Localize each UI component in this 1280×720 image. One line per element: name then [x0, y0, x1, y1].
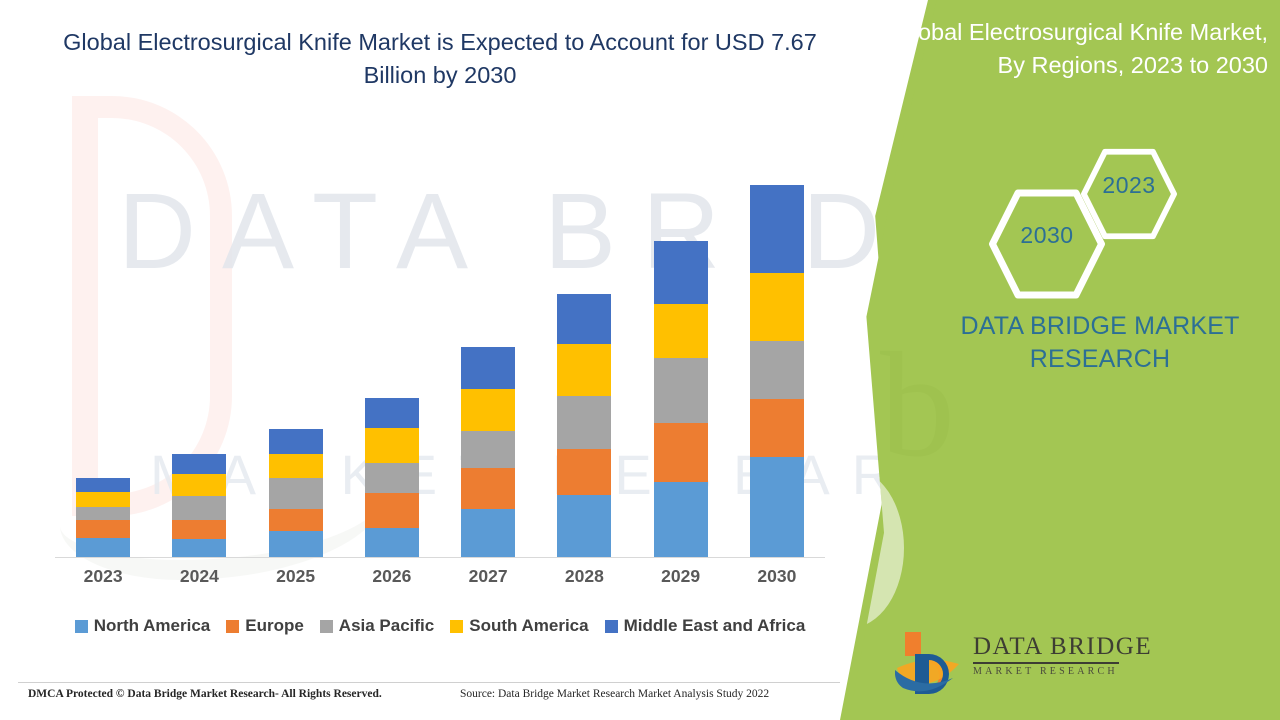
footer-source: Source: Data Bridge Market Research Mark… — [460, 688, 769, 700]
legend-item[interactable]: Middle East and Africa — [605, 616, 806, 636]
bar-segment[interactable] — [76, 520, 130, 538]
bar-stack[interactable] — [654, 241, 708, 558]
bar-segment[interactable] — [76, 478, 130, 492]
x-axis-label: 2024 — [151, 566, 247, 587]
bar-segment[interactable] — [365, 528, 419, 558]
bar-stack[interactable] — [172, 454, 226, 558]
data-bridge-logo-mark — [895, 628, 969, 694]
hexagon-pair: 2030 2023 — [975, 148, 1195, 288]
x-axis-label: 2025 — [248, 566, 344, 587]
infographic-canvas: DATA BRIDGE MARKET RESEARCH Global Elect… — [0, 0, 1280, 720]
page-title: Global Electrosurgical Knife Market is E… — [60, 26, 820, 93]
bar-segment[interactable] — [654, 241, 708, 304]
bar-segment[interactable] — [750, 457, 804, 558]
hexagon-2023: 2023 — [1081, 146, 1177, 242]
bar-column — [55, 150, 151, 558]
data-bridge-logo-text: DATA BRIDGE MARKET RESEARCH — [973, 634, 1123, 677]
legend-swatch-icon — [605, 620, 618, 633]
bar-segment[interactable] — [172, 454, 226, 475]
bar-segment[interactable] — [365, 428, 419, 463]
logo-wordmark: DATA BRIDGE — [973, 634, 1123, 659]
bar-column — [248, 150, 344, 558]
bar-column — [729, 150, 825, 558]
bar-segment[interactable] — [750, 185, 804, 273]
bar-stack[interactable] — [461, 347, 515, 558]
panel-brand-text: DATA BRIDGE MARKET RESEARCH — [950, 310, 1250, 376]
bar-segment[interactable] — [461, 509, 515, 558]
bar-segment[interactable] — [654, 482, 708, 558]
chart-legend: North AmericaEuropeAsia PacificSouth Ame… — [55, 616, 825, 636]
x-axis-label: 2023 — [55, 566, 151, 587]
bar-segment[interactable] — [76, 507, 130, 520]
x-axis-label: 2027 — [440, 566, 536, 587]
bar-segment[interactable] — [365, 463, 419, 493]
legend-label: Middle East and Africa — [624, 616, 806, 636]
bar-segment[interactable] — [750, 273, 804, 341]
bar-segment[interactable] — [172, 474, 226, 496]
legend-label: Asia Pacific — [339, 616, 434, 636]
bar-segment[interactable] — [172, 520, 226, 539]
bar-stack[interactable] — [269, 429, 323, 558]
bar-segment[interactable] — [269, 429, 323, 454]
bar-segment[interactable] — [269, 454, 323, 479]
legend-label: Europe — [245, 616, 304, 636]
legend-item[interactable]: Asia Pacific — [320, 616, 434, 636]
legend-swatch-icon — [75, 620, 88, 633]
bar-segment[interactable] — [76, 492, 130, 507]
legend-item[interactable]: Europe — [226, 616, 304, 636]
bar-segment[interactable] — [654, 358, 708, 422]
bar-segment[interactable] — [750, 341, 804, 399]
legend-item[interactable]: South America — [450, 616, 588, 636]
footer-copyright: DMCA Protected © Data Bridge Market Rese… — [28, 688, 382, 700]
data-bridge-logo: DATA BRIDGE MARKET RESEARCH — [895, 628, 1125, 694]
bar-segment[interactable] — [461, 389, 515, 431]
bar-segment[interactable] — [557, 344, 611, 396]
bar-segment[interactable] — [557, 294, 611, 344]
legend-swatch-icon — [226, 620, 239, 633]
bar-column — [151, 150, 247, 558]
bar-stack[interactable] — [76, 478, 130, 558]
bar-segment[interactable] — [172, 539, 226, 558]
x-axis-label: 2028 — [536, 566, 632, 587]
legend-label: North America — [94, 616, 211, 636]
bar-segment[interactable] — [461, 347, 515, 390]
x-axis-label: 2030 — [729, 566, 825, 587]
x-axis-labels: 20232024202520262027202820292030 — [55, 566, 825, 587]
bar-group — [55, 150, 825, 558]
bar-segment[interactable] — [365, 493, 419, 528]
legend-item[interactable]: North America — [75, 616, 211, 636]
bar-column — [440, 150, 536, 558]
bar-segment[interactable] — [76, 538, 130, 558]
bar-stack[interactable] — [750, 185, 804, 558]
bar-segment[interactable] — [172, 496, 226, 520]
bar-segment[interactable] — [461, 431, 515, 468]
bar-stack[interactable] — [557, 294, 611, 558]
bar-segment[interactable] — [269, 509, 323, 531]
bar-segment[interactable] — [365, 398, 419, 428]
bar-column — [344, 150, 440, 558]
bar-segment[interactable] — [557, 396, 611, 449]
chart-plot-area — [55, 150, 825, 558]
hexagon-2023-label: 2023 — [1081, 172, 1177, 199]
legend-swatch-icon — [320, 620, 333, 633]
bar-stack[interactable] — [365, 398, 419, 558]
bar-column — [536, 150, 632, 558]
bar-segment[interactable] — [654, 304, 708, 359]
legend-swatch-icon — [450, 620, 463, 633]
legend-label: South America — [469, 616, 588, 636]
logo-tagline: MARKET RESEARCH — [973, 666, 1123, 677]
bar-segment[interactable] — [269, 531, 323, 558]
bar-segment[interactable] — [654, 423, 708, 483]
footer-divider — [18, 682, 840, 683]
bar-column — [633, 150, 729, 558]
logo-rule — [973, 662, 1119, 664]
bar-segment[interactable] — [750, 399, 804, 457]
x-axis-line — [55, 557, 825, 558]
x-axis-label: 2029 — [633, 566, 729, 587]
bar-segment[interactable] — [557, 495, 611, 558]
bar-segment[interactable] — [269, 478, 323, 509]
x-axis-label: 2026 — [344, 566, 440, 587]
panel-title: Global Electrosurgical Knife Market, By … — [878, 16, 1268, 83]
bar-segment[interactable] — [461, 468, 515, 509]
panel-watermark-glyph: b — [880, 330, 955, 480]
bar-segment[interactable] — [557, 449, 611, 495]
